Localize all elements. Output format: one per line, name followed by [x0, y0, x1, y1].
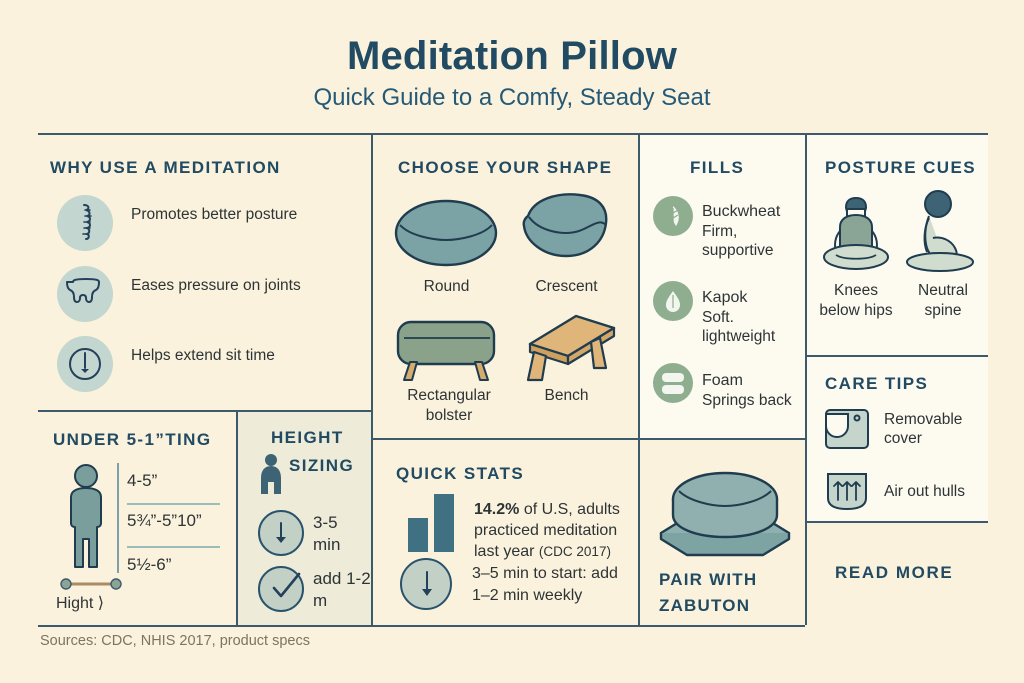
bar-0	[408, 518, 428, 552]
shapes-heading: CHOOSE YOUR SHAPE	[398, 158, 612, 178]
height-measurement-0: 4-5”	[127, 471, 157, 491]
why-item-label-2: Helps extend sit time	[131, 346, 275, 365]
divider-top	[38, 133, 988, 135]
divider-v-why-shapes	[371, 133, 373, 625]
divider-v-fills-posture	[805, 133, 807, 625]
quick-stats-heading: QUICK STATS	[396, 464, 524, 484]
shape-caption-2: Rectangular bolster	[390, 386, 508, 426]
check-circle-icon	[269, 572, 301, 604]
page-title: Meditation Pillow	[0, 34, 1024, 79]
divider-v-shapes-fills	[638, 133, 640, 625]
quick-stat-text-1: 3–5 min to start: add 1–2 min weekly	[472, 563, 640, 607]
height-measurement-2: 5½-6”	[127, 555, 171, 575]
fill-name-2: Foam	[702, 371, 743, 390]
fill-name-0: Buckwheat	[702, 202, 780, 221]
sizing-label-1: add 1-2 m	[313, 568, 371, 612]
sizing-heading-line2: SIZING	[289, 456, 354, 476]
height-measure-rule-1	[127, 546, 220, 548]
bench-icon	[512, 310, 620, 386]
shape-caption-0: Round	[394, 277, 499, 297]
fill-desc-0: Firm, supportive	[702, 222, 794, 260]
fill-desc-1: Soft. lightweight	[702, 308, 794, 346]
posture-caption-1: Neutral spine	[905, 281, 981, 321]
removable-cover-icon	[824, 406, 870, 450]
rectangular-bolster-icon	[392, 318, 502, 384]
fills-heading: FILLS	[690, 158, 744, 178]
droplet-icon	[664, 289, 682, 313]
seated-meditator-icon	[820, 193, 892, 275]
height-guide-heading: UNDER 5-1”TING	[53, 430, 211, 450]
read-more-link[interactable]: READ MORE	[835, 563, 953, 583]
bar-1	[434, 494, 454, 552]
spine-icon	[72, 203, 100, 245]
clock-down-icon	[272, 521, 290, 545]
bar-chart-icon	[408, 494, 458, 552]
divider-care-readmore	[807, 521, 988, 523]
fill-desc-2: Springs back	[702, 391, 797, 410]
height-ruler-label: Hight ⟩	[56, 594, 104, 613]
foam-icon	[661, 372, 685, 395]
height-ruler-icon	[60, 578, 122, 590]
care-heading: CARE TIPS	[825, 374, 928, 394]
standing-person-icon	[58, 463, 114, 571]
divider-bottom	[38, 625, 805, 627]
height-measurement-1: 5¾”-5”10”	[127, 511, 202, 531]
height-measure-rule-0	[127, 503, 220, 505]
fill-name-1: Kapok	[702, 288, 747, 307]
divider-center-mid	[373, 438, 805, 440]
why-heading: WHY USE A MEDITATION	[50, 158, 281, 178]
page-subtitle: Quick Guide to a Comfy, Steady Seat	[0, 84, 1024, 112]
why-item-label-0: Promotes better posture	[131, 205, 297, 224]
air-out-icon	[824, 470, 870, 512]
shape-caption-3: Bench	[514, 386, 619, 406]
posture-caption-0: Knees below hips	[818, 281, 894, 321]
divider-posture-care	[807, 355, 988, 357]
zabuton-stack-icon	[651, 455, 799, 567]
care-label-0: Removable cover	[884, 410, 982, 448]
shape-caption-1: Crescent	[514, 277, 619, 297]
height-guide-separator	[117, 463, 119, 573]
crescent-cushion-icon	[518, 190, 614, 268]
kneeling-meditator-icon	[905, 188, 979, 276]
round-cushion-icon	[394, 195, 499, 267]
divider-v-height-sizing	[236, 410, 238, 625]
quick-stat-value-0: 14.2%	[474, 501, 519, 518]
pair-label-line2: ZABUTON	[659, 596, 750, 616]
quick-stat-text-0: 14.2% of U.S, adults practiced meditatio…	[474, 499, 634, 562]
person-icon	[258, 452, 288, 494]
why-item-label-1: Eases pressure on joints	[131, 276, 301, 295]
quick-stat-clock-icon	[418, 570, 436, 598]
footer-sources: Sources: CDC, NHIS 2017, product specs	[40, 633, 310, 649]
leaf-icon	[663, 204, 683, 228]
pelvis-icon	[68, 277, 104, 311]
clock-icon	[68, 347, 102, 381]
divider-left-mid	[38, 410, 373, 412]
sizing-label-0: 3-5 min	[313, 512, 369, 556]
quick-stat-source-0: (CDC 2017)	[539, 544, 611, 559]
care-label-1: Air out hulls	[884, 482, 965, 501]
pair-label-line1: PAIR WITH	[659, 570, 757, 590]
posture-heading: POSTURE CUES	[825, 158, 976, 178]
sizing-heading-line1: HEIGHT	[271, 428, 344, 448]
